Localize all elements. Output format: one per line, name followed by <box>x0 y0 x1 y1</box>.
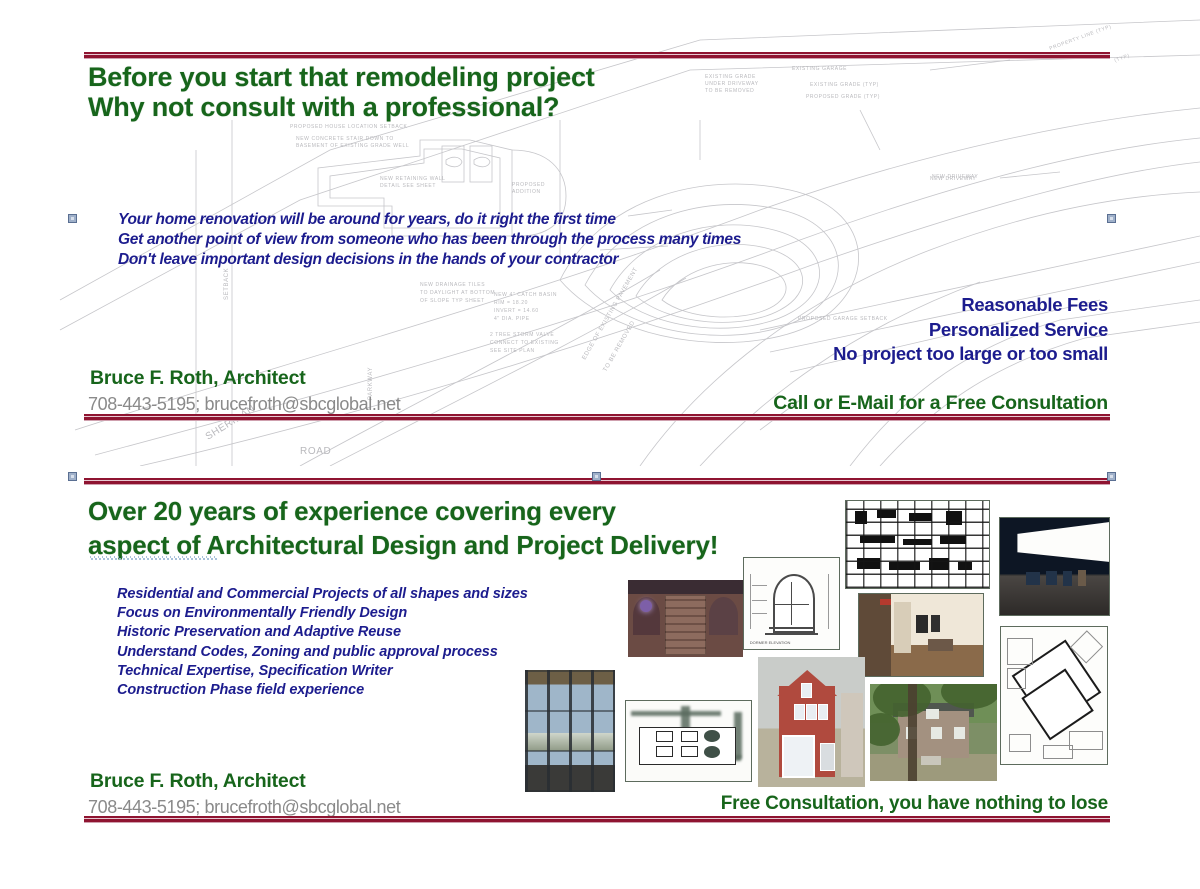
handle-center-dot <box>71 217 74 220</box>
flyer-bottom-heading: Over 20 years of experience covering eve… <box>88 494 718 562</box>
cad-label-proposed-grade-typ: PROPOSED GRADE (TYP) <box>806 94 880 100</box>
flyer-top: EXISTING GARAGE PROPOSED GRADE (TYP) EXI… <box>0 0 1200 466</box>
handle-center-dot <box>1110 217 1113 220</box>
cad-label-proposed-house: PROPOSED <box>512 182 545 188</box>
dormer-elevation-drawing[interactable]: DORMER ELEVATION <box>743 557 840 650</box>
site-plan-sketch-drawing[interactable] <box>625 700 752 782</box>
cad-label-new-concrete-stair2: BASEMENT OF EXISTING GRADE WELL <box>296 143 409 149</box>
flyer-bottom-bullets: Residential and Commercial Projects of a… <box>117 585 528 700</box>
handle-center-dot <box>71 475 74 478</box>
flyer-top-heading: Before you start that remodeling project… <box>88 62 595 122</box>
cad-label-existing-grade-removed: EXISTING GRADE <box>705 74 756 80</box>
axonometric-floor-plan-drawing[interactable] <box>1000 626 1108 765</box>
handle-top-left[interactable] <box>68 214 77 223</box>
city-block-plan-drawing[interactable] <box>845 500 990 589</box>
divider-rule-bottom <box>84 816 1110 823</box>
flyer-top-signature-name: Bruce F. Roth, Architect <box>90 367 306 390</box>
flyer-bottom-call-to-action: Free Consultation, you have nothing to l… <box>721 793 1108 815</box>
lobby-corridor-interior-photo[interactable] <box>858 593 984 677</box>
cad-label-new-drainage3: OF SLOPE TYP SHEET <box>420 298 485 304</box>
handle-top-right[interactable] <box>1107 214 1116 223</box>
flyer-top-call-to-action: Call or E-Mail for a Free Consultation <box>773 392 1108 415</box>
cad-label-existing-grade-removed3: TO BE REMOVED <box>705 88 754 94</box>
flyer-bottom-signature-contact[interactable]: 708-443-5195; brucefroth@sbcglobal.net <box>88 797 400 818</box>
handle-mid-right[interactable] <box>1107 472 1116 481</box>
brick-pier-church-interior-photo[interactable] <box>628 580 743 657</box>
flyer-bottom-signature-name: Bruce F. Roth, Architect <box>90 770 306 793</box>
spellcheck-squiggle <box>90 556 218 560</box>
cad-label-retaining-wall: NEW RETAINING WALL <box>380 176 446 182</box>
cad-label-new-concrete-stair: NEW CONCRETE STAIR DOWN TO <box>296 136 394 142</box>
cad-label-new-drainage2: TO DAYLIGHT AT BOTTOM <box>420 290 495 296</box>
cad-label-vertical-1: EDGE OF EXISTING PAVEMENT <box>582 267 640 361</box>
red-house-exterior-photo[interactable] <box>758 657 865 787</box>
flyer-top-signature-contact[interactable]: 708-443-5195; brucefroth@sbcglobal.net <box>88 394 400 415</box>
curtain-wall-interior-photo[interactable] <box>525 670 615 792</box>
cad-label-typ: (TYP) <box>1114 53 1131 64</box>
cad-label-existing-garage: EXISTING GARAGE <box>792 66 847 72</box>
cad-label-property-line: PROPERTY LINE (TYP) <box>1049 24 1113 52</box>
cad-label-existing-grade-typ: EXISTING GRADE (TYP) <box>810 82 879 88</box>
flyer-top-fees-block: Reasonable Fees Personalized Service No … <box>833 293 1108 367</box>
cad-label-vertical-2: TO BE REMOVED <box>603 320 637 373</box>
cad-label-proposed-house2: ADDITION <box>512 189 541 195</box>
stone-house-with-tree-photo[interactable] <box>870 684 997 781</box>
divider-rule-top-bottom <box>84 414 1110 421</box>
flyer-top-bullets: Your home renovation will be around for … <box>118 210 741 270</box>
handle-center-dot <box>1110 475 1113 478</box>
skylight-gallery-interior-photo[interactable] <box>999 517 1110 616</box>
cad-label-vertical-3: SETBACK <box>224 268 230 300</box>
cad-label-existing-grade-removed2: UNDER DRIVEWAY <box>705 81 759 87</box>
dormer-elevation-caption: DORMER ELEVATION <box>750 640 791 645</box>
divider-rule-top <box>84 52 1110 59</box>
cad-label-misc6: CONNECT TO EXISTING <box>490 340 559 346</box>
flyer-bottom: Over 20 years of experience covering eve… <box>0 466 1200 889</box>
cad-label-misc5: 2 TREE STORM VALVE <box>490 332 554 338</box>
handle-mid-left[interactable] <box>68 472 77 481</box>
cad-label-new-driveway: NEW DRIVEWAY <box>930 176 976 182</box>
cad-label-retaining-wall2: DETAIL SEE SHEET <box>380 183 436 189</box>
cad-label-misc4: 4" DIA. PIPE <box>494 316 530 322</box>
handle-center-dot <box>595 475 598 478</box>
cad-label-new-dr: NEW DRIVEWAY <box>932 174 978 180</box>
cad-label-proposed-house-setback: PROPOSED HOUSE LOCATION SETBACK <box>290 124 407 130</box>
cad-label-new-drainage: NEW DRAINAGE TILES <box>420 282 485 288</box>
cad-label-misc3: INVERT = 14.60 <box>494 308 539 314</box>
cad-label-misc1: NEW 4" CATCH BASIN <box>494 292 557 298</box>
handle-mid-center[interactable] <box>592 472 601 481</box>
cad-label-misc2: RIM = 18.20 <box>494 300 528 306</box>
cad-label-misc7: SEE SITE PLAN <box>490 348 535 354</box>
cad-label-road: ROAD <box>300 446 331 457</box>
